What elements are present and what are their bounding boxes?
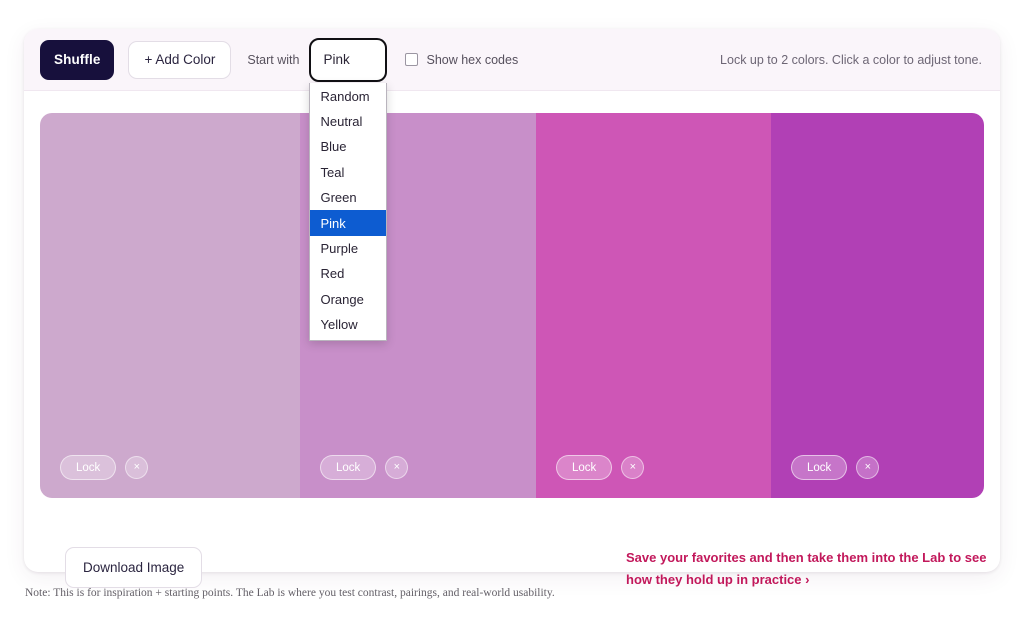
color-swatch-4[interactable]: Lock ×: [771, 113, 984, 498]
dropdown-option-label: Purple: [320, 241, 358, 256]
dropdown-option-pink[interactable]: Pink: [310, 210, 386, 235]
dropdown-option-label: Random: [320, 89, 369, 104]
lock-button-label: Lock: [336, 462, 360, 474]
add-color-button[interactable]: + Add Color: [128, 41, 231, 79]
shuffle-button-label: Shuffle: [54, 52, 100, 67]
close-icon: ×: [630, 462, 636, 473]
lock-button-2[interactable]: Lock: [320, 455, 376, 480]
remove-swatch-button-4[interactable]: ×: [856, 456, 879, 479]
dropdown-option-teal[interactable]: Teal: [310, 160, 386, 185]
dropdown-option-label: Blue: [320, 139, 346, 154]
swatch-strip: Lock × Lock ×: [40, 113, 984, 498]
lock-button-4[interactable]: Lock: [791, 455, 847, 480]
lab-promo-link[interactable]: Save your favorites and then take them i…: [626, 547, 1006, 591]
remove-swatch-button-1[interactable]: ×: [125, 456, 148, 479]
checkbox-box-icon: [405, 53, 418, 66]
dropdown-option-label: Teal: [320, 165, 344, 180]
add-color-button-label: + Add Color: [144, 52, 215, 67]
dropdown-option-label: Red: [320, 266, 344, 281]
remove-swatch-button-2[interactable]: ×: [385, 456, 408, 479]
dropdown-option-blue[interactable]: Blue: [310, 134, 386, 159]
app-root: Shuffle + Add Color Start with Pink Rand…: [0, 0, 1024, 628]
remove-swatch-button-3[interactable]: ×: [621, 456, 644, 479]
download-image-label: Download Image: [83, 560, 184, 575]
dropdown-option-random[interactable]: Random: [310, 84, 386, 109]
shuffle-button[interactable]: Shuffle: [40, 40, 114, 80]
lock-button-label: Lock: [572, 462, 596, 474]
lock-button-label: Lock: [76, 462, 100, 474]
color-swatch-3[interactable]: Lock ×: [536, 113, 771, 498]
dropdown-option-label: Orange: [320, 292, 363, 307]
start-with-select-value: Pink: [323, 52, 349, 67]
toolbar: Shuffle + Add Color Start with Pink Rand…: [24, 29, 1000, 91]
show-hex-codes-label: Show hex codes: [426, 53, 518, 67]
dropdown-option-label: Neutral: [320, 114, 362, 129]
show-hex-codes-checkbox[interactable]: Show hex codes: [405, 53, 518, 67]
dropdown-option-label: Pink: [320, 216, 345, 231]
dropdown-option-red[interactable]: Red: [310, 261, 386, 286]
lock-button-3[interactable]: Lock: [556, 455, 612, 480]
start-with-select-wrap: Pink Random Neutral Blue Teal: [309, 38, 387, 82]
close-icon: ×: [394, 462, 400, 473]
swatch-actions: Lock ×: [556, 455, 644, 480]
dropdown-option-label: Green: [320, 190, 356, 205]
lock-button-1[interactable]: Lock: [60, 455, 116, 480]
toolbar-hint: Lock up to 2 colors. Click a color to ad…: [720, 53, 984, 67]
dropdown-option-purple[interactable]: Purple: [310, 236, 386, 261]
swatch-actions: Lock ×: [60, 455, 148, 480]
close-icon: ×: [865, 462, 871, 473]
dropdown-option-label: Yellow: [320, 317, 357, 332]
dropdown-option-neutral[interactable]: Neutral: [310, 109, 386, 134]
swatch-actions: Lock ×: [791, 455, 879, 480]
dropdown-option-green[interactable]: Green: [310, 185, 386, 210]
download-image-button[interactable]: Download Image: [65, 547, 202, 588]
close-icon: ×: [134, 462, 140, 473]
footer-note: Note: This is for inspiration + starting…: [25, 587, 555, 599]
color-swatch-1[interactable]: Lock ×: [40, 113, 300, 498]
dropdown-option-orange[interactable]: Orange: [310, 287, 386, 312]
lock-button-label: Lock: [807, 462, 831, 474]
start-with-select[interactable]: Pink: [309, 38, 387, 82]
dropdown-option-yellow[interactable]: Yellow: [310, 312, 386, 337]
palette-card: Shuffle + Add Color Start with Pink Rand…: [24, 29, 1000, 572]
swatch-actions: Lock ×: [320, 455, 408, 480]
start-with-dropdown[interactable]: Random Neutral Blue Teal Green: [309, 83, 387, 342]
start-with-label: Start with: [247, 53, 299, 67]
